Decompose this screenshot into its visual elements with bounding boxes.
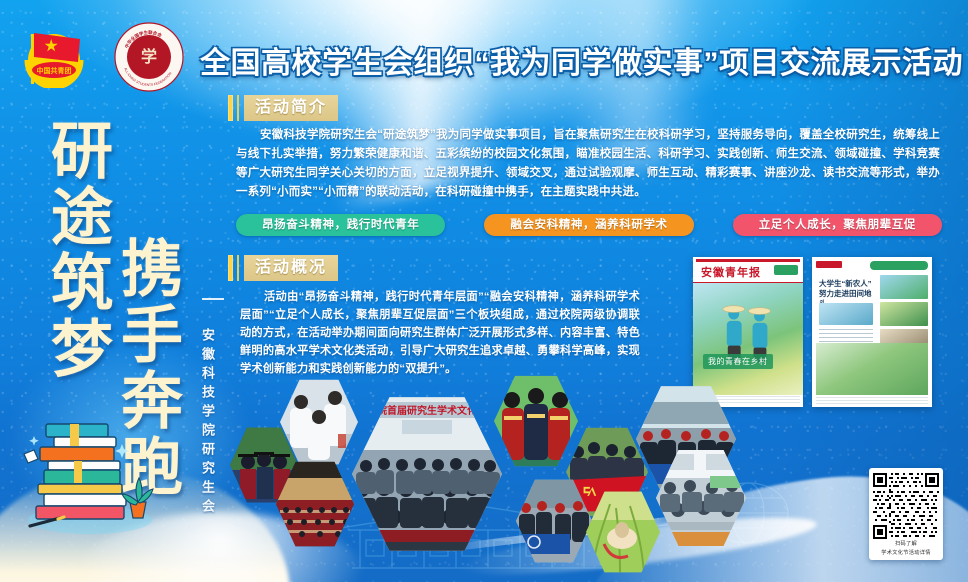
page-title: 全国高校学生会组织“我为同学做实事”项目交流展示活动 (200, 38, 960, 82)
tag-academic[interactable]: 融会安科精神，涵养科研学术 (484, 214, 693, 236)
accent-bar (228, 255, 233, 281)
newspaper-inner-page[interactable]: 大学生“新农人” 努力走进田间地头 (812, 257, 932, 407)
qr-caption-line-2: 学术文化节活动详情 (873, 550, 939, 557)
newspaper-front-page[interactable]: 安徽青年报 我 (693, 257, 803, 407)
qr-caption-line-1: 扫码了解 (873, 541, 939, 548)
inner-bottom-photo (816, 343, 928, 395)
inner-page-logo (816, 261, 842, 268)
qr-code[interactable] (873, 473, 939, 539)
inner-photo-2 (880, 302, 928, 326)
newspaper-group: 安徽青年报 我 (693, 257, 932, 407)
section-header-overview: 活动概况 (228, 255, 338, 281)
hexagon-photo-collage: 学院首届研究生学术文化节 (228, 400, 848, 580)
newspaper-masthead: 安徽青年报 (693, 257, 803, 283)
intro-paragraph: 安徽科技学院研究生会“研途筑梦”我为同学做实事项目，旨在聚焦研究生在校科研学习，… (236, 126, 940, 202)
newspaper-cover-photo: 我的青春在乡村 (693, 283, 803, 395)
svg-text:学: 学 (141, 47, 157, 66)
tag-growth[interactable]: 立足个人成长，聚焦朋辈互促 (733, 214, 942, 236)
section-label-intro: 活动简介 (244, 95, 338, 121)
tag-spirit[interactable]: 昂扬奋斗精神，践行时代青年 (236, 214, 445, 236)
newspaper-title: 安徽青年报 (701, 264, 761, 280)
svg-text:学院首届研究生学术文化节: 学院首届研究生学术文化节 (367, 404, 487, 417)
communist-youth-league-emblem: 中国共青团 (14, 26, 98, 88)
section-label-overview: 活动概况 (244, 255, 338, 281)
group-photo-academic-festival[interactable]: 学院首届研究生学术文化节 (352, 394, 502, 554)
masthead-badge (774, 265, 798, 275)
section-header-intro: 活动简介 (228, 95, 338, 121)
qr-code-block[interactable]: 扫码了解 学术文化节活动详情 (869, 468, 943, 560)
logo-group: 中国共青团 学 中华全国学生联合会 ALL-CHINA STUDENTS FED… (14, 22, 184, 92)
inner-photo-1 (880, 275, 928, 299)
newspaper-caption: 我的青春在乡村 (703, 354, 773, 369)
tag-row: 昂扬奋斗精神，践行时代青年 融会安科精神，涵养科研学术 立足个人成长，聚焦朋辈互… (236, 214, 942, 236)
inner-page-badge (870, 261, 928, 270)
inner-photo-4 (819, 303, 873, 325)
accent-bar-thin (237, 255, 239, 281)
organization-name: 安徽科技学院研究生会 (198, 328, 217, 518)
divider-dash (202, 298, 224, 300)
svg-text:中国共青团: 中国共青团 (37, 66, 72, 75)
poster-canvas: 中国共青团 学 中华全国学生联合会 ALL-CHINA STUDENTS FED… (0, 0, 968, 582)
accent-bar-thin (237, 95, 239, 121)
book-stack-illustration (18, 402, 168, 542)
masthead-red-bar (696, 259, 800, 262)
all-china-students-federation-emblem: 学 中华全国学生联合会 ALL-CHINA STUDENTS FEDERATIO… (114, 22, 184, 92)
overview-paragraph: 活动由“昂扬奋斗精神，践行时代青年层面”“融会安科精神，涵养科研学术层面”“立足… (240, 288, 640, 378)
accent-bar (228, 95, 233, 121)
